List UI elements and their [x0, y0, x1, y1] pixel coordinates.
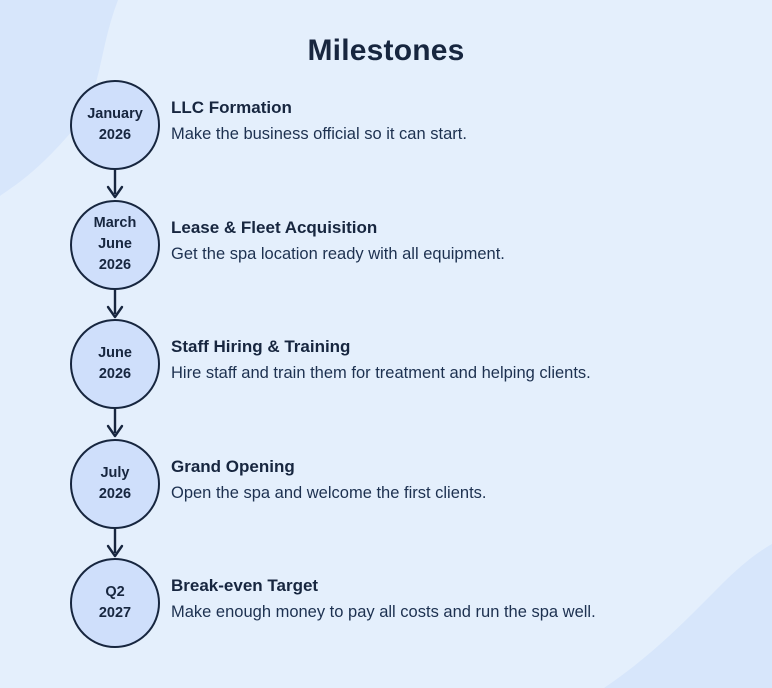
- milestone-title: Lease & Fleet Acquisition: [171, 216, 758, 240]
- milestone-date-node[interactable]: March June 2026: [70, 200, 160, 290]
- down-arrow-icon: [99, 529, 131, 559]
- milestone-description: Open the spa and welcome the first clien…: [171, 481, 758, 505]
- page-title: Milestones: [0, 34, 772, 68]
- milestone-date-line: 2026: [99, 484, 131, 505]
- milestone-item[interactable]: Q2 2027 Break-even Target Make enough mo…: [0, 558, 772, 678]
- milestone-date-line: 2027: [99, 603, 131, 624]
- milestone-item[interactable]: January 2026 LLC Formation Make the busi…: [0, 80, 772, 200]
- milestone-content: Grand Opening Open the spa and welcome t…: [171, 455, 758, 505]
- milestone-date-line: March: [94, 213, 137, 234]
- milestone-item[interactable]: July 2026 Grand Opening Open the spa and…: [0, 439, 772, 559]
- milestone-date-line: Q2: [105, 582, 124, 603]
- down-arrow-icon: [99, 170, 131, 200]
- milestone-date-node[interactable]: July 2026: [70, 439, 160, 529]
- milestone-date-node[interactable]: Q2 2027: [70, 558, 160, 648]
- milestone-description: Make enough money to pay all costs and r…: [171, 600, 758, 624]
- down-arrow-icon: [99, 409, 131, 439]
- milestone-date-node[interactable]: June 2026: [70, 319, 160, 409]
- milestone-item[interactable]: June 2026 Staff Hiring & Training Hire s…: [0, 319, 772, 439]
- milestone-date-line: June: [98, 343, 132, 364]
- down-arrow-icon: [99, 290, 131, 320]
- milestones-diagram: Milestones January 2026 LLC Formation Ma…: [0, 0, 772, 688]
- milestone-date-line: July: [100, 463, 129, 484]
- milestone-content: LLC Formation Make the business official…: [171, 96, 758, 146]
- milestone-content: Lease & Fleet Acquisition Get the spa lo…: [171, 216, 758, 266]
- milestone-date-line: June: [98, 234, 132, 255]
- milestone-date-line: 2026: [99, 364, 131, 385]
- milestone-content: Staff Hiring & Training Hire staff and t…: [171, 335, 758, 385]
- milestone-description: Make the business official so it can sta…: [171, 122, 758, 146]
- milestone-title: LLC Formation: [171, 96, 758, 120]
- milestone-description: Get the spa location ready with all equi…: [171, 242, 758, 266]
- milestone-content: Break-even Target Make enough money to p…: [171, 574, 758, 624]
- milestone-description: Hire staff and train them for treatment …: [171, 361, 758, 385]
- milestone-timeline: January 2026 LLC Formation Make the busi…: [0, 80, 772, 678]
- milestone-title: Grand Opening: [171, 455, 758, 479]
- milestone-date-node[interactable]: January 2026: [70, 80, 160, 170]
- milestone-date-line: 2026: [99, 255, 131, 276]
- milestone-item[interactable]: March June 2026 Lease & Fleet Acquisitio…: [0, 200, 772, 320]
- milestone-date-line: January: [87, 104, 143, 125]
- milestone-title: Break-even Target: [171, 574, 758, 598]
- milestone-title: Staff Hiring & Training: [171, 335, 758, 359]
- milestone-date-line: 2026: [99, 125, 131, 146]
